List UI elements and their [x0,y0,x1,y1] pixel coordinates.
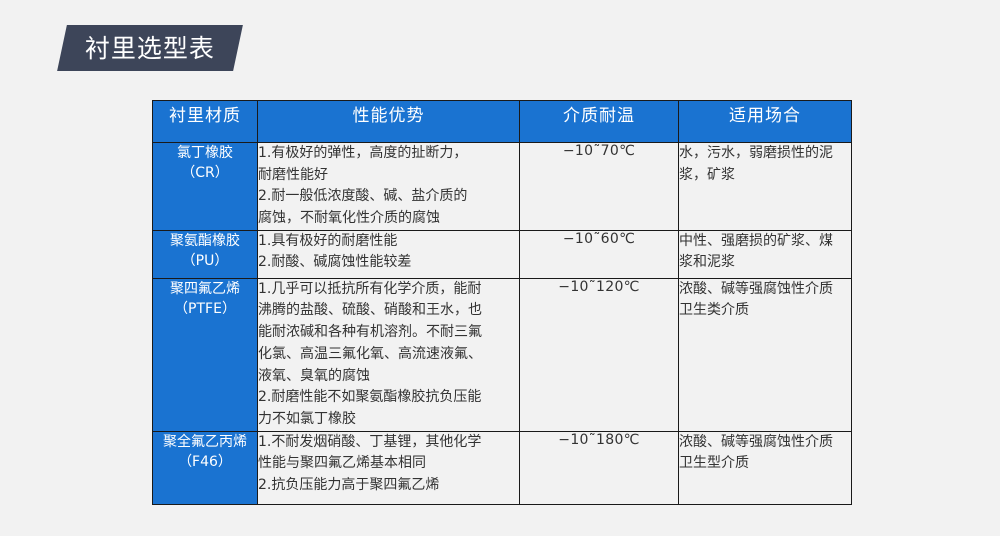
column-header-temperature: 介质耐温 [520,101,679,143]
advantage-line: 能耐浓碱和各种有机溶剂。不耐三氟 [258,322,519,344]
table-row: 聚全氟乙丙烯 （F46） 1.不耐发烟硝酸、丁基锂，其他化学 性能与聚四氟乙烯基… [153,431,852,504]
cell-material: 氯丁橡胶 （CR） [153,143,258,231]
cell-application: 水，污水，弱磨损性的泥 浆，矿浆 [679,143,852,231]
advantage-line: 2.耐一般低浓度酸、碱、盐介质的 [258,186,519,208]
advantage-line: 力不如氯丁橡胶 [258,409,519,431]
cell-temperature: −10˜60℃ [520,230,679,278]
cell-material: 聚全氟乙丙烯 （F46） [153,431,258,504]
material-abbreviation: （F46） [153,452,257,472]
advantage-line: 2.耐磨性能不如聚氨酯橡胶抗负压能 [258,387,519,409]
material-name: 氯丁橡胶 [153,143,257,163]
table-body: 氯丁橡胶 （CR） 1.有极好的弹性，高度的扯断力， 耐磨性能好 2.耐一般低浓… [153,143,852,505]
cell-application: 浓酸、碱等强腐蚀性介质 卫生类介质 [679,278,852,431]
material-abbreviation: （PTFE） [153,299,257,319]
cell-advantages: 1.几乎可以抵抗所有化学介质，能耐 沸腾的盐酸、硫酸、硝酸和王水，也 能耐浓碱和… [258,278,520,431]
material-abbreviation: （PU） [153,251,257,271]
advantage-line: 1.不耐发烟硝酸、丁基锂，其他化学 [258,432,519,454]
advantage-line: 液氧、臭氧的腐蚀 [258,366,519,388]
cell-temperature: −10˜120℃ [520,278,679,431]
material-name: 聚四氟乙烯 [153,279,257,299]
cell-advantages: 1.不耐发烟硝酸、丁基锂，其他化学 性能与聚四氟乙烯基本相同 2.抗负压能力高于… [258,431,520,504]
cell-advantages: 1.有极好的弹性，高度的扯断力， 耐磨性能好 2.耐一般低浓度酸、碱、盐介质的 … [258,143,520,231]
cell-advantages: 1.具有极好的耐磨性能 2.耐酸、碱腐蚀性能较差 [258,230,520,278]
table-header: 衬里材质 性能优势 介质耐温 适用场合 [153,101,852,143]
advantage-line: 性能与聚四氟乙烯基本相同 [258,453,519,475]
material-name: 聚氨酯橡胶 [153,231,257,251]
cell-application: 浓酸、碱等强腐蚀性介质 卫生型介质 [679,431,852,504]
column-header-advantages: 性能优势 [258,101,520,143]
page-title-banner: 衬里选型表 [57,25,243,71]
advantage-line: 1.具有极好的耐磨性能 [258,231,519,253]
column-header-application: 适用场合 [679,101,852,143]
application-line: 浓酸、碱等强腐蚀性介质 [679,432,851,454]
advantage-line: 2.耐酸、碱腐蚀性能较差 [258,252,519,274]
table-row: 聚氨酯橡胶 （PU） 1.具有极好的耐磨性能 2.耐酸、碱腐蚀性能较差 −10˜… [153,230,852,278]
cell-temperature: −10˜180℃ [520,431,679,504]
application-line: 浆，矿浆 [679,165,851,187]
advantage-line: 1.有极好的弹性，高度的扯断力， [258,143,519,165]
material-name: 聚全氟乙丙烯 [153,432,257,452]
column-header-material: 衬里材质 [153,101,258,143]
lining-selection-table: 衬里材质 性能优势 介质耐温 适用场合 氯丁橡胶 （CR） 1.有极好的弹性，高… [152,100,852,505]
cell-material: 聚氨酯橡胶 （PU） [153,230,258,278]
table-row: 聚四氟乙烯 （PTFE） 1.几乎可以抵抗所有化学介质，能耐 沸腾的盐酸、硫酸、… [153,278,852,431]
application-line: 浆和泥浆 [679,252,851,274]
application-line: 浓酸、碱等强腐蚀性介质 [679,279,851,301]
material-abbreviation: （CR） [153,163,257,183]
advantage-line: 1.几乎可以抵抗所有化学介质，能耐 [258,279,519,301]
advantage-line: 沸腾的盐酸、硫酸、硝酸和王水，也 [258,300,519,322]
advantage-line: 2.抗负压能力高于聚四氟乙烯 [258,475,519,497]
application-line: 卫生类介质 [679,300,851,322]
cell-temperature: −10˜70℃ [520,143,679,231]
application-line: 中性、强磨损的矿浆、煤 [679,231,851,253]
page-title: 衬里选型表 [85,36,215,61]
cell-material: 聚四氟乙烯 （PTFE） [153,278,258,431]
cell-application: 中性、强磨损的矿浆、煤 浆和泥浆 [679,230,852,278]
advantage-line: 耐磨性能好 [258,165,519,187]
application-line: 水，污水，弱磨损性的泥 [679,143,851,165]
advantage-line: 腐蚀，不耐氧化性介质的腐蚀 [258,208,519,230]
table-header-row: 衬里材质 性能优势 介质耐温 适用场合 [153,101,852,143]
application-line: 卫生型介质 [679,453,851,475]
table-row: 氯丁橡胶 （CR） 1.有极好的弹性，高度的扯断力， 耐磨性能好 2.耐一般低浓… [153,143,852,231]
advantage-line: 化氯、高温三氟化氧、高流速液氟、 [258,344,519,366]
